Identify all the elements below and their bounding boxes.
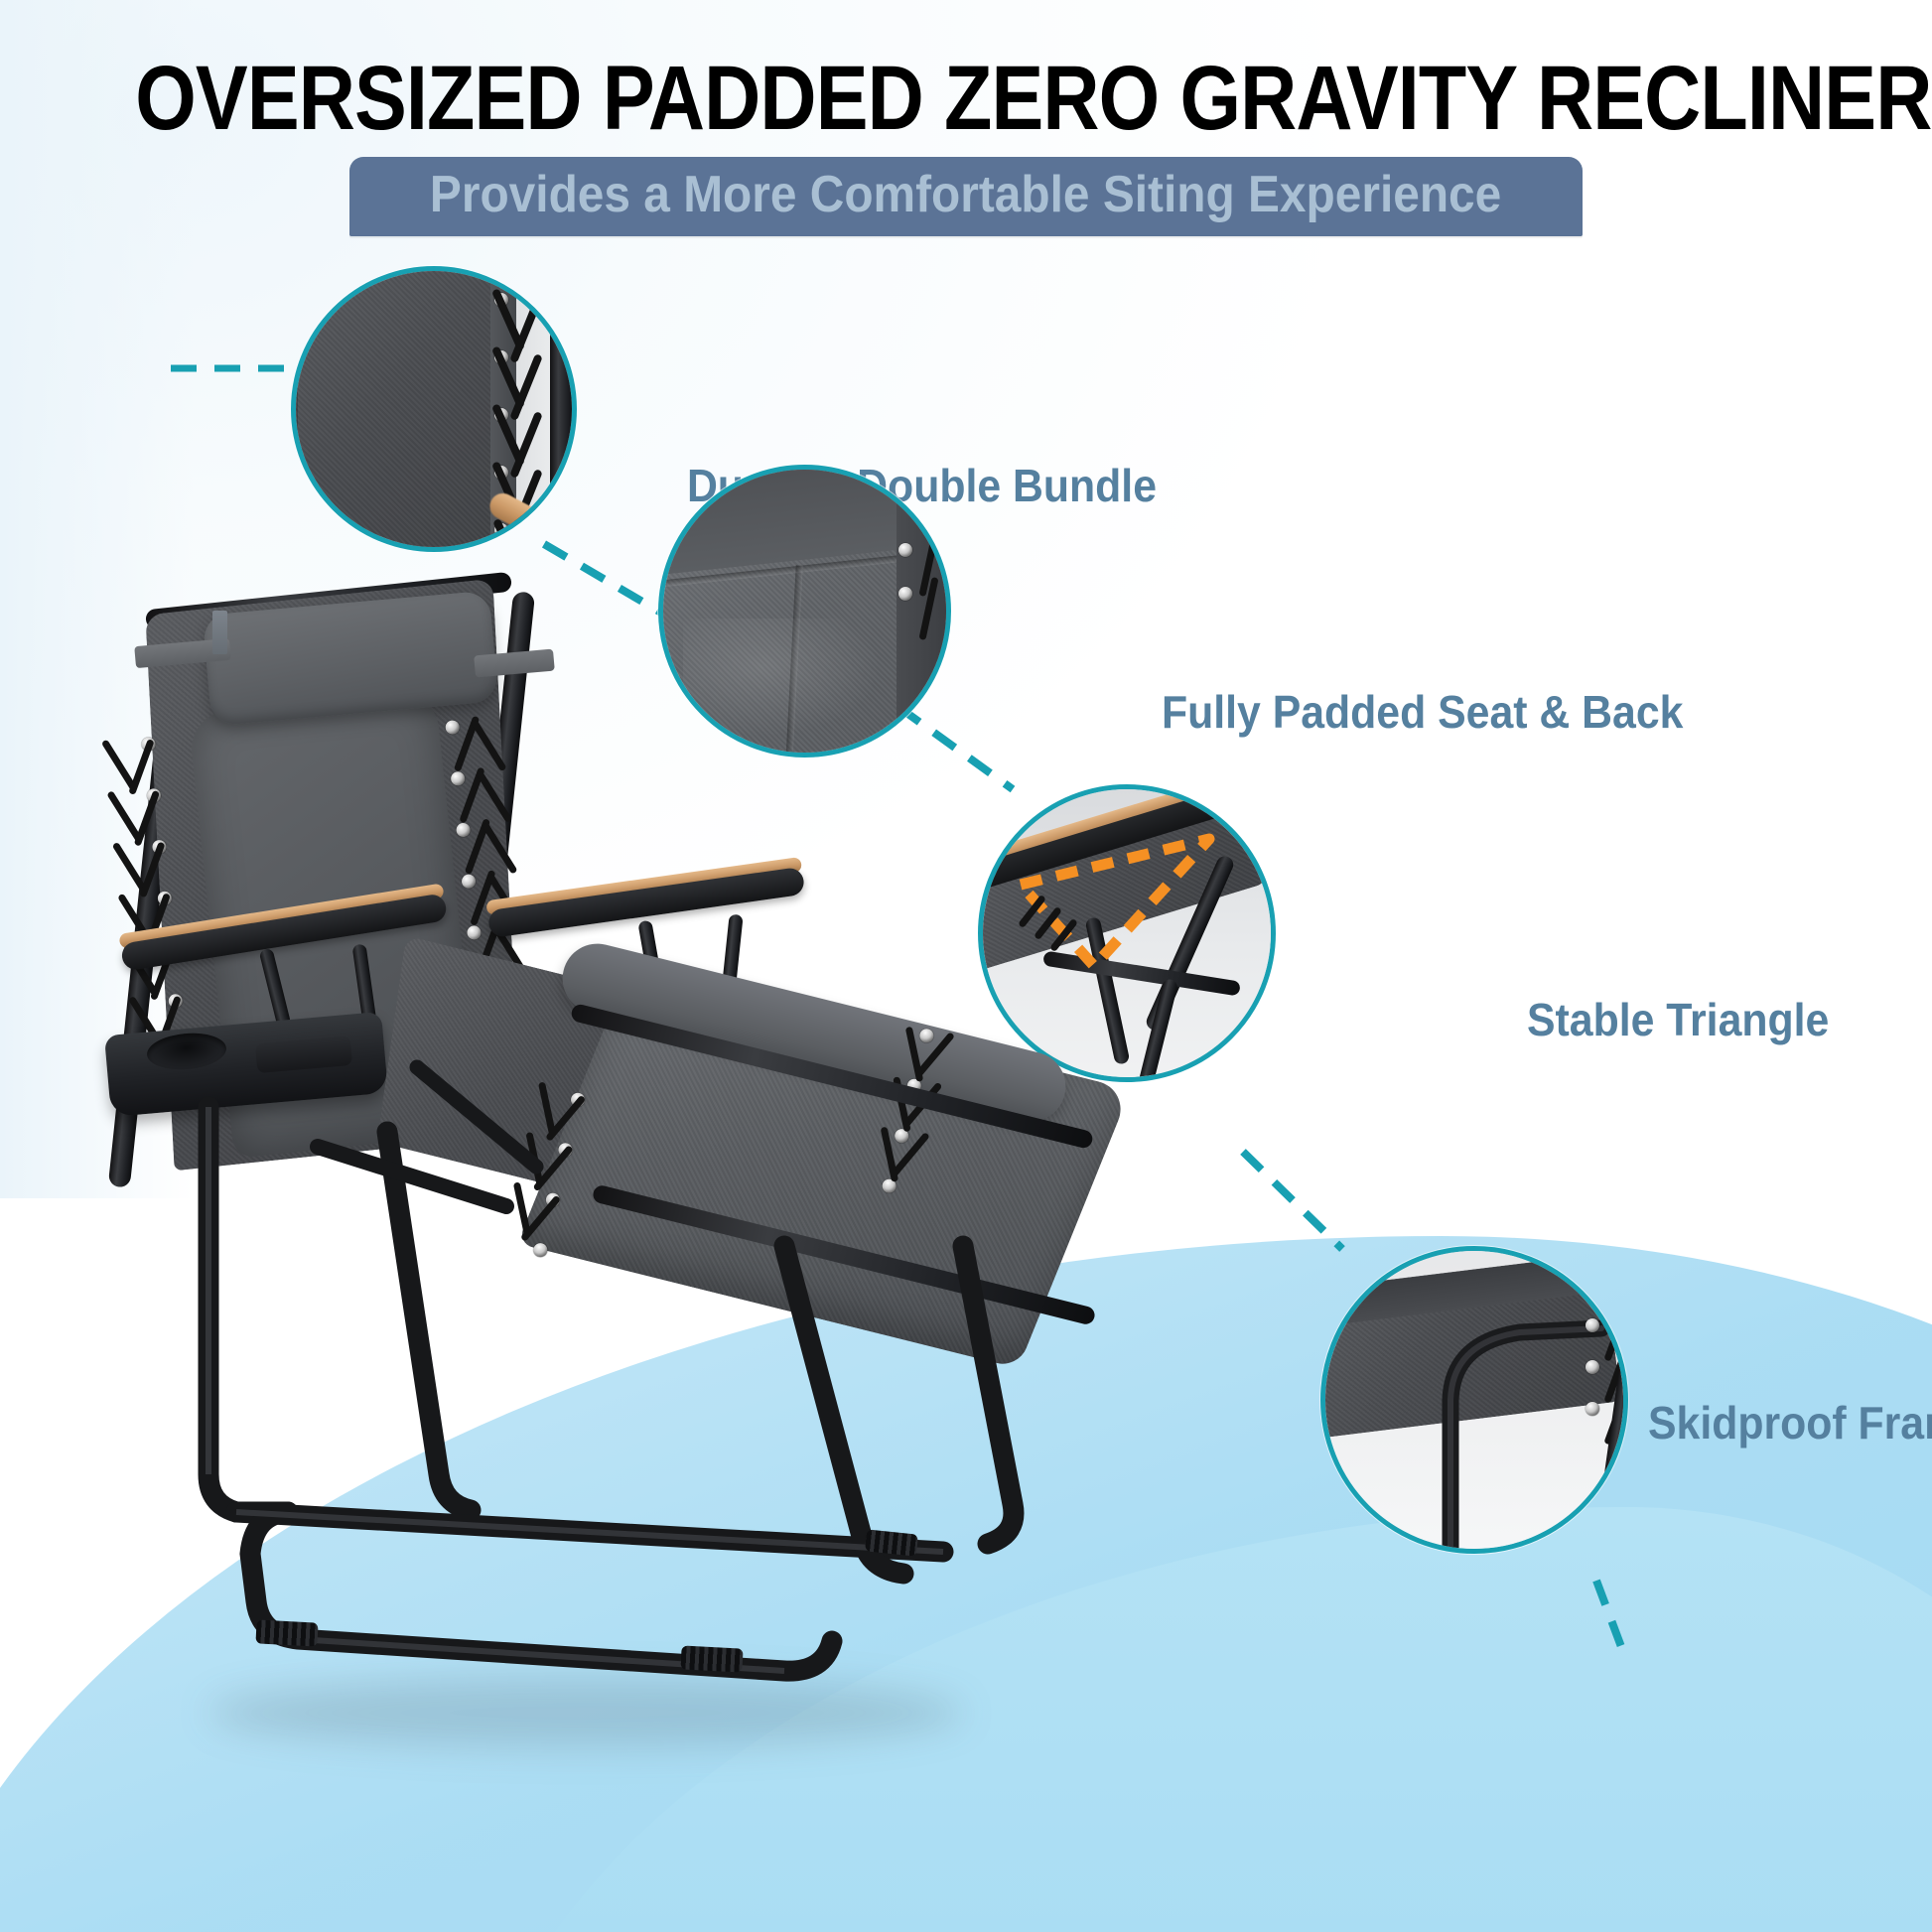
pad-seam xyxy=(296,271,298,547)
frame-tube-detail xyxy=(550,271,572,547)
product-photo-zero-gravity-recliner xyxy=(89,551,1172,1802)
skidproof-frame-base xyxy=(89,551,1172,1802)
label-skidproof-frame: Skidproof Frame xyxy=(1648,1400,1932,1446)
label-fully-padded-seat-back: Fully Padded Seat & Back xyxy=(1162,689,1683,735)
subtitle-text: Provides a More Comfortable Siting Exper… xyxy=(430,167,1501,222)
page-title: OVERSIZED PADDED ZERO GRAVITY RECLINER xyxy=(135,52,1797,147)
header: OVERSIZED PADDED ZERO GRAVITY RECLINER P… xyxy=(0,0,1932,236)
callout-1-image xyxy=(296,271,572,547)
callout-skidproof-frame[interactable] xyxy=(1320,1246,1628,1554)
callout-durable-double-bundle[interactable] xyxy=(291,266,577,552)
subtitle-container: Provides a More Comfortable Siting Exper… xyxy=(0,157,1932,236)
grommet xyxy=(1586,1402,1599,1416)
label-stable-triangle: Stable Triangle xyxy=(1527,997,1829,1042)
grommet xyxy=(1586,1318,1599,1332)
skidproof-tube xyxy=(1325,1251,1623,1549)
skidproof-foot-cap-left xyxy=(255,1619,318,1646)
subtitle-banner: Provides a More Comfortable Siting Exper… xyxy=(349,157,1582,236)
skidproof-foot-cap-right xyxy=(680,1645,743,1672)
grommet xyxy=(1586,1360,1599,1374)
infographic-page: OVERSIZED PADDED ZERO GRAVITY RECLINER P… xyxy=(0,0,1932,1932)
backrest-pad-detail xyxy=(296,271,499,547)
callout-4-image xyxy=(1325,1251,1623,1549)
